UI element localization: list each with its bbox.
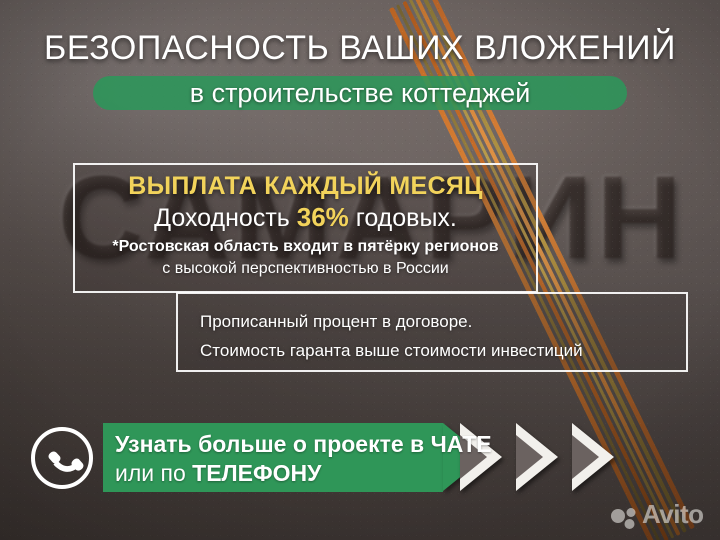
page-title: БЕЗОПАСНОСТЬ ВАШИХ ВЛОЖЕНИЙ xyxy=(0,28,720,68)
yield-label: Доходность xyxy=(154,204,297,232)
guarantee-line-2: Стоимость гаранта выше стоимости инвести… xyxy=(200,339,583,363)
offer-yield-line: Доходность 36% годовых. xyxy=(73,202,538,234)
avito-brand-text: Avito xyxy=(642,499,704,529)
cta-line-1: Узнать больше о проекте в ЧАТЕ xyxy=(115,429,492,460)
guarantee-line-1: Прописанный процент в договоре. xyxy=(200,310,472,334)
cta-line-2-prefix: или по xyxy=(115,460,192,486)
phone-handset-icon[interactable] xyxy=(31,427,93,489)
yield-percent-value: 36% xyxy=(297,202,349,232)
cta-line-2: или по ТЕЛЕФОНУ xyxy=(115,458,321,489)
offer-title: ВЫПЛАТА КАЖДЫЙ МЕСЯЦ xyxy=(73,170,538,202)
overlay-content: БЕЗОПАСНОСТЬ ВАШИХ ВЛОЖЕНИЙ в строительс… xyxy=(0,0,720,540)
avito-dots-icon xyxy=(611,507,639,534)
cta-line-2-strong: ТЕЛЕФОНУ xyxy=(192,460,321,486)
offer-note-line-2: с высокой перспективностью в России xyxy=(73,258,538,280)
yield-period: годовых. xyxy=(349,204,457,232)
chevron-right-icon xyxy=(572,423,614,491)
subtitle-text: в строительстве коттеджей xyxy=(0,73,720,113)
chevron-right-icon xyxy=(516,423,558,491)
offer-note-line-1: *Ростовская область входит в пятёрку рег… xyxy=(73,236,538,258)
avito-watermark: Avito xyxy=(611,503,711,533)
